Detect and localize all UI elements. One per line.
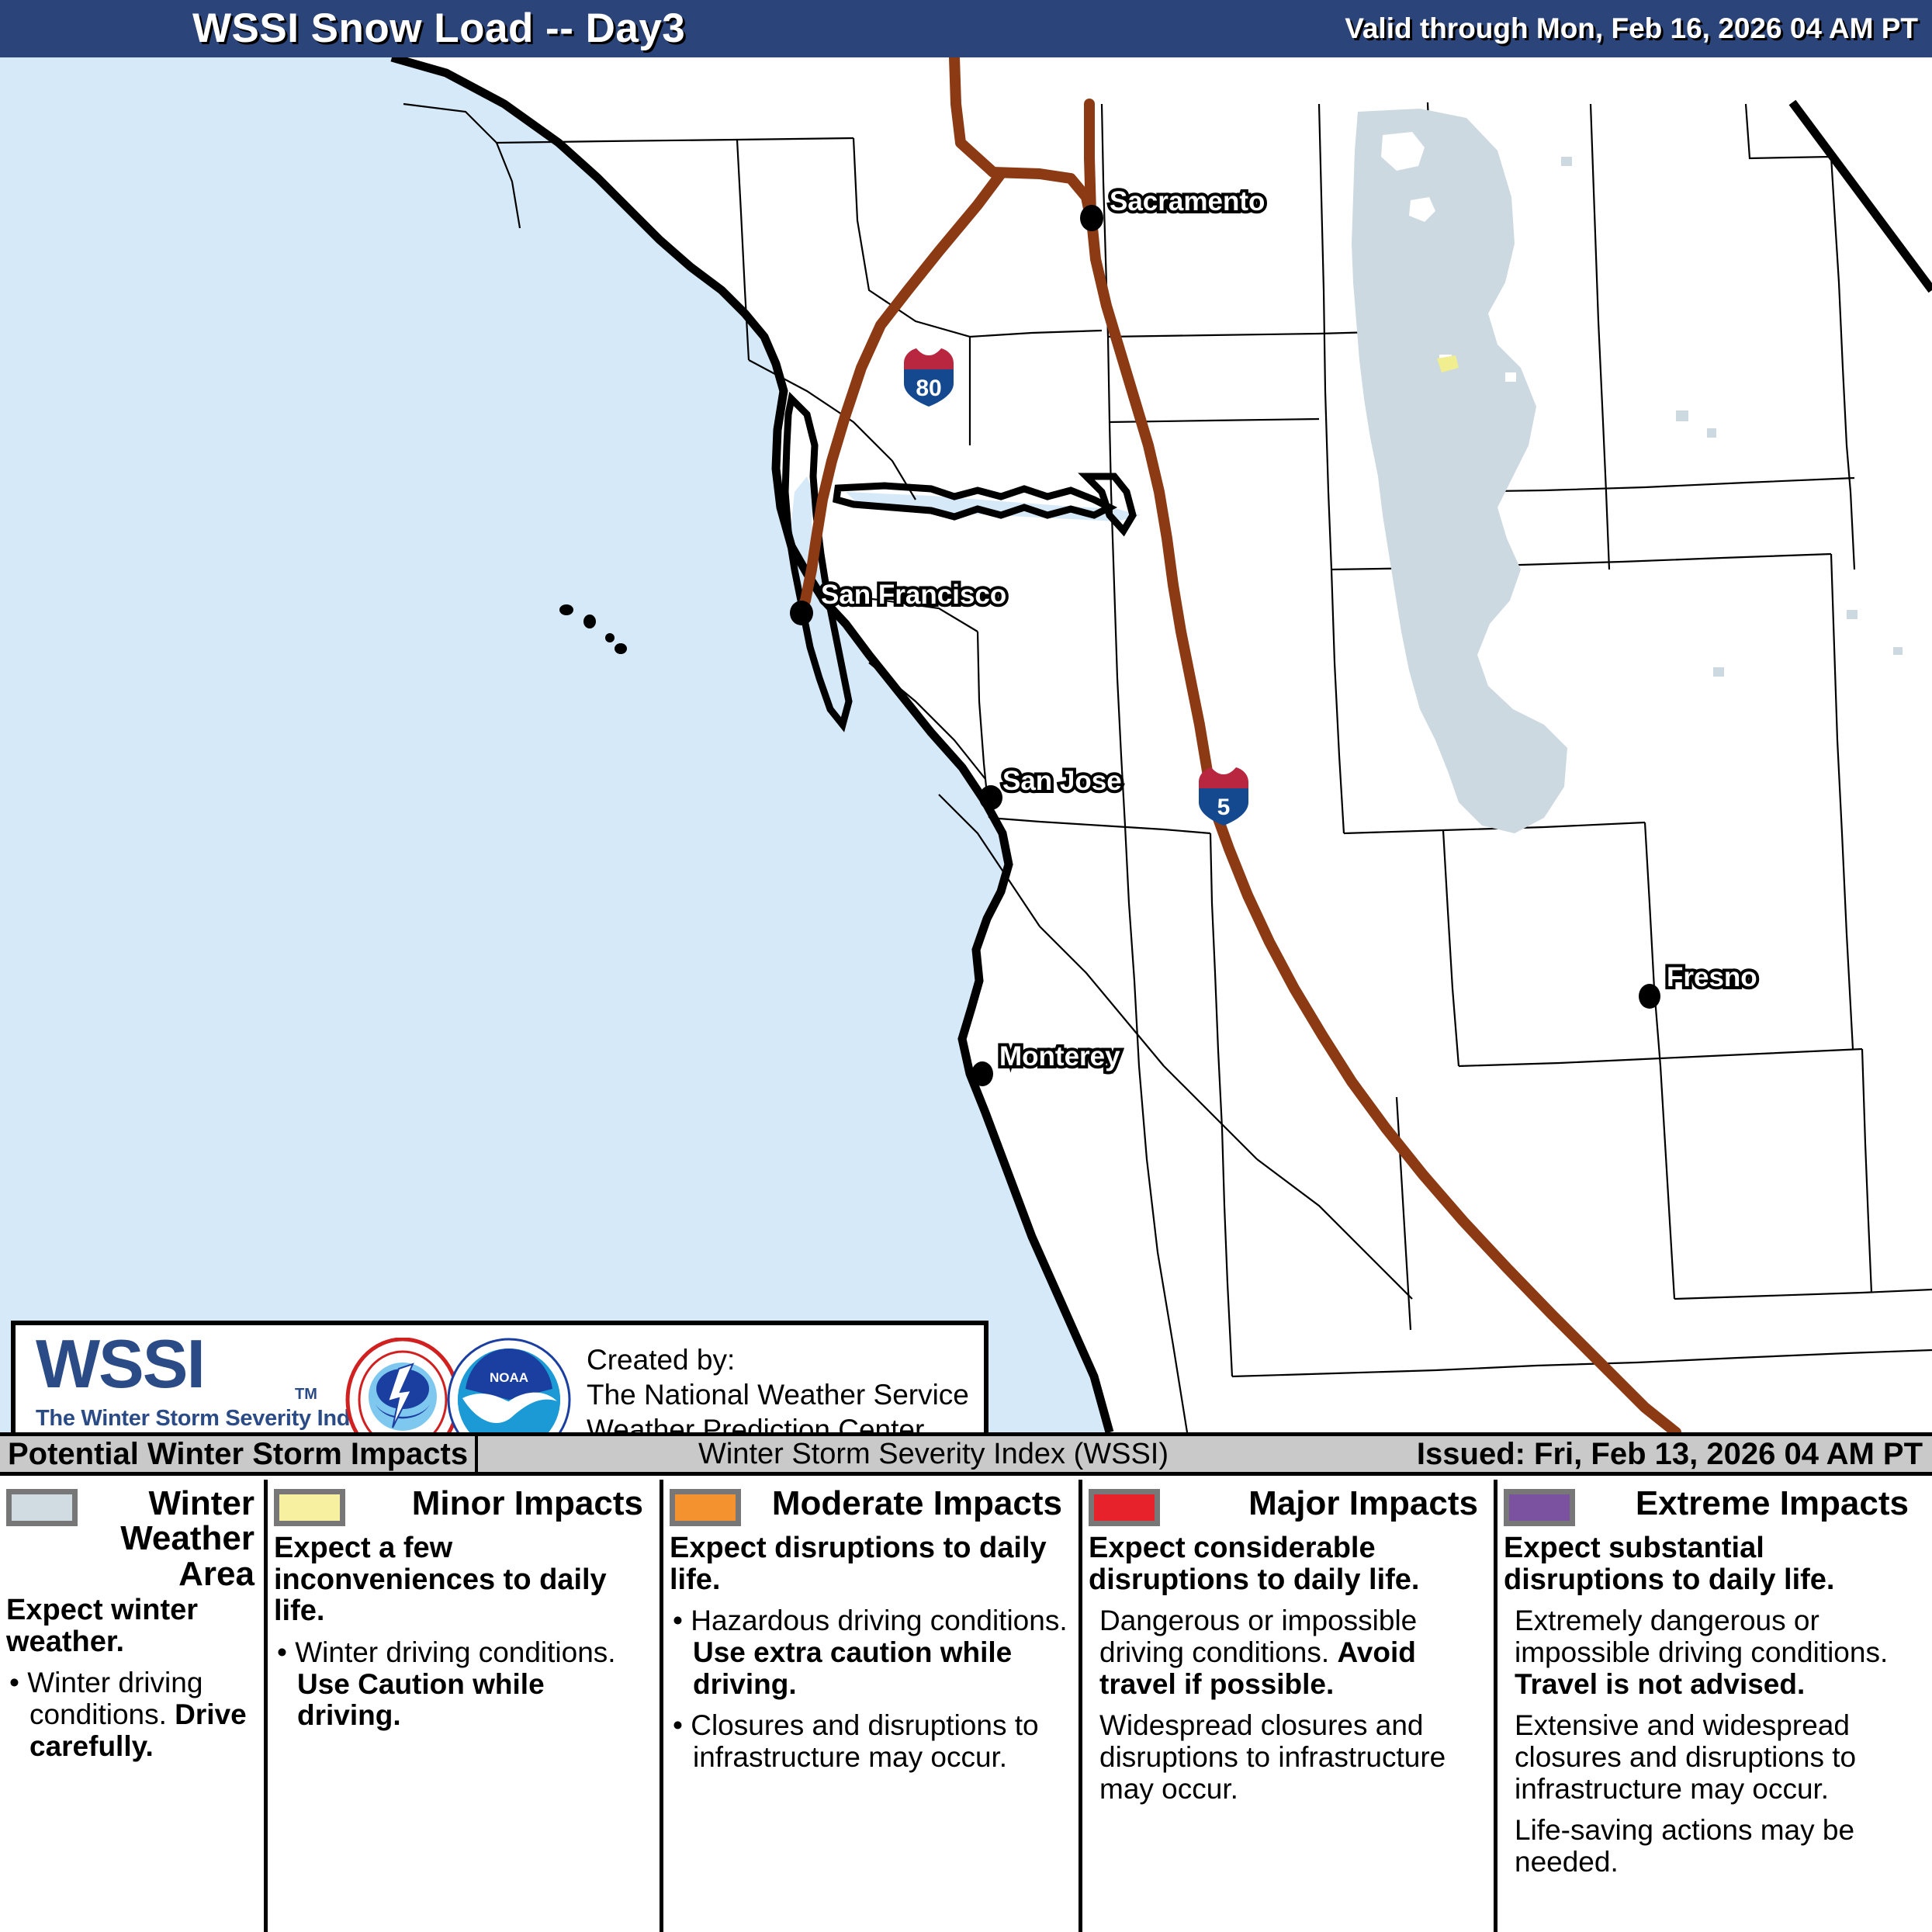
legend-bullet: Hazardous driving conditions. Use extra … <box>670 1605 1071 1700</box>
legend-panel-header: Moderate Impacts <box>670 1486 1071 1529</box>
shield-route-number: 5 <box>1217 795 1231 820</box>
swatch-major-impacts <box>1089 1489 1160 1526</box>
legend-bullet: Closures and disruptions to infrastructu… <box>670 1710 1071 1773</box>
legend-bullets-minor-impacts: Winter driving conditions. Use Caution w… <box>274 1637 652 1732</box>
legend-bullet: Widespread closures and disruptions to i… <box>1089 1710 1486 1805</box>
legend-panel-header: Extreme Impacts <box>1504 1486 1924 1529</box>
legend-panel-minor-impacts[interactable]: Minor Impacts Expect a few inconvenience… <box>268 1480 663 1932</box>
legend-bullet: Winter driving conditions. Drive careful… <box>6 1667 256 1762</box>
legend-lead-moderate-impacts: Expect disruptions to daily life. <box>670 1532 1071 1595</box>
city-label-sacramento: Sacramento Sacramento <box>1110 188 1265 215</box>
legend-bullet: Extensive and widespread closures and di… <box>1504 1710 1924 1805</box>
legend-title-major-impacts: Major Impacts <box>1168 1486 1478 1521</box>
legend-title-winter-weather-area: Winter Weather Area <box>85 1486 254 1591</box>
city-dot-san-jose <box>979 785 1002 810</box>
created-by-block: Created by: The National Weather Service… <box>587 1342 969 1432</box>
swatch-minor-impacts <box>274 1489 345 1526</box>
swatch-extreme-impacts <box>1504 1489 1575 1526</box>
city-label-fresno: Fresno Fresno <box>1667 964 1757 991</box>
swatch-moderate-impacts <box>670 1489 741 1526</box>
interstate-5-shield: 5 <box>1195 765 1252 827</box>
legend-panel-header: Winter Weather Area <box>6 1486 256 1591</box>
trademark-symbol: TM <box>295 1386 317 1404</box>
national-weather-service-seal-icon: ★ ★ ★ <box>345 1338 461 1432</box>
city-dot-sacramento <box>1080 205 1103 231</box>
impact-header-bar: Potential Winter Storm Impacts Winter St… <box>0 1432 1932 1476</box>
impact-bar-divider-1 <box>475 1436 478 1472</box>
legend-bullets-extreme-impacts: Extremely dangerous or impossible drivin… <box>1504 1605 1924 1878</box>
impact-bar-center-label: Winter Storm Severity Index (WSSI) <box>698 1436 1169 1472</box>
legend-panel-header: Minor Impacts <box>274 1486 652 1529</box>
legend-lead-extreme-impacts: Expect substantial disruptions to daily … <box>1504 1532 1924 1595</box>
map-graphic <box>0 57 1932 1432</box>
page-title: WSSI Snow Load -- Day3 <box>192 5 685 52</box>
wssi-subtitle: The Winter Storm Severity Index <box>36 1406 375 1432</box>
map-canvas[interactable]: 80 5 Sacramento Sacramento San Francisco… <box>0 57 1932 1432</box>
wssi-snow-load-map-page: WSSI Snow Load -- Day3 Valid through Mon… <box>0 0 1932 1932</box>
legend-title-minor-impacts: Minor Impacts <box>353 1486 643 1521</box>
title-bar: WSSI Snow Load -- Day3 Valid through Mon… <box>0 0 1932 57</box>
legend-title-extreme-impacts: Extreme Impacts <box>1583 1486 1909 1521</box>
shield-route-number: 80 <box>916 376 941 401</box>
legend-bullets-winter-weather-area: Winter driving conditions. Drive careful… <box>6 1667 256 1762</box>
city-dot-monterey <box>971 1061 993 1086</box>
wssi-wordmark: WSSI <box>36 1330 204 1398</box>
city-dot-fresno <box>1639 984 1660 1009</box>
legend-title-moderate-impacts: Moderate Impacts <box>749 1486 1062 1521</box>
legend-bullet: Winter driving conditions. Use Caution w… <box>274 1637 652 1732</box>
created-by-line-2: The National Weather Service <box>587 1377 969 1412</box>
legend-lead-winter-weather-area: Expect winter weather. <box>6 1594 256 1657</box>
impact-bar-right-label: Issued: Fri, Feb 13, 2026 04 AM PT <box>1417 1436 1923 1472</box>
noaa-seal-icon: NOAA <box>447 1338 571 1432</box>
noaa-label: NOAA <box>490 1370 528 1385</box>
legend-lead-minor-impacts: Expect a few inconveniences to daily lif… <box>274 1532 652 1627</box>
legend-bullets-major-impacts: Dangerous or impossible driving conditio… <box>1089 1605 1486 1805</box>
legend-bullet: Dangerous or impossible driving conditio… <box>1089 1605 1486 1700</box>
legend-bullets-moderate-impacts: Hazardous driving conditions. Use extra … <box>670 1605 1071 1773</box>
legend-panels: Winter Weather Area Expect winter weathe… <box>0 1480 1932 1932</box>
wssi-logo-box: WSSI TM The Winter Storm Severity Index … <box>11 1321 989 1432</box>
legend-bullet: Life-saving actions may be needed. <box>1504 1815 1924 1878</box>
created-by-line-1: Created by: <box>587 1342 969 1377</box>
legend-panel-header: Major Impacts <box>1089 1486 1486 1529</box>
impact-bar-left-label: Potential Winter Storm Impacts <box>8 1436 468 1472</box>
city-label-san-francisco: San Francisco San Francisco <box>821 581 1006 608</box>
legend-bullet: Extremely dangerous or impossible drivin… <box>1504 1605 1924 1700</box>
created-by-line-3: Weather Prediction Center <box>587 1412 969 1432</box>
legend-panel-major-impacts[interactable]: Major Impacts Expect considerable disrup… <box>1082 1480 1497 1932</box>
swatch-winter-weather-area <box>6 1489 78 1526</box>
legend-lead-major-impacts: Expect considerable disruptions to daily… <box>1089 1532 1486 1595</box>
interstate-80-shield: 80 <box>900 346 957 408</box>
legend-panel-moderate-impacts[interactable]: Moderate Impacts Expect disruptions to d… <box>663 1480 1082 1932</box>
legend-panel-extreme-impacts[interactable]: Extreme Impacts Expect substantial disru… <box>1497 1480 1932 1932</box>
city-label-san-jose: San Jose San Jose <box>1002 767 1122 795</box>
city-dot-san-francisco <box>790 601 813 625</box>
legend-panel-winter-weather-area[interactable]: Winter Weather Area Expect winter weathe… <box>0 1480 268 1932</box>
city-label-monterey: Monterey Monterey <box>999 1043 1120 1070</box>
valid-through-text: Valid through Mon, Feb 16, 2026 04 AM PT <box>1345 12 1918 45</box>
